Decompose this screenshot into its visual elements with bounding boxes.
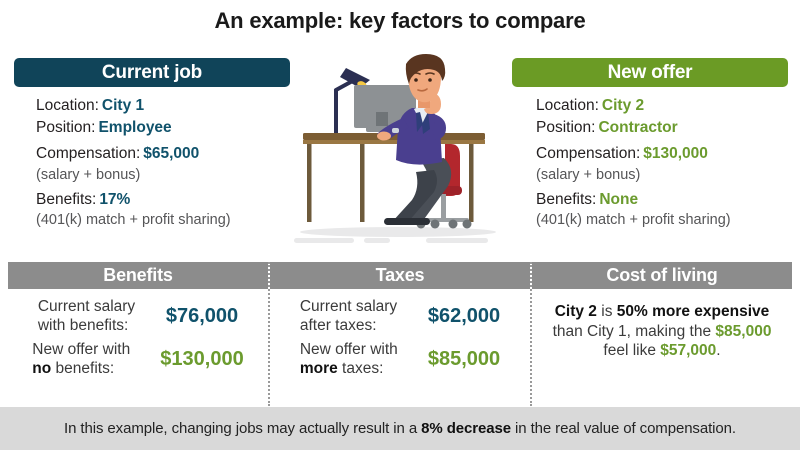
table-row: New offer with no benefits: $130,000 xyxy=(8,341,268,378)
offer-compensation-subtext: (salary + bonus) xyxy=(536,166,788,185)
taxes-row1-label-line1: Current salary xyxy=(300,298,397,315)
footer-summary-text: In this example, changing jobs may actua… xyxy=(64,420,736,437)
taxes-column-header: Taxes xyxy=(270,262,530,289)
offer-compensation-value: $130,000 xyxy=(643,145,708,162)
benefits-row1-label-line1: Current salary xyxy=(38,298,135,315)
offer-location-value: City 2 xyxy=(602,97,644,114)
taxes-row2-label-bold: more xyxy=(300,360,338,377)
table-row: Current salary after taxes: $62,000 xyxy=(270,298,530,335)
current-benefits-label: Benefits: xyxy=(36,191,96,208)
taxes-row1-value: $62,000 xyxy=(428,305,500,328)
cost-of-living-note: City 2 is 50% more expensive than City 1… xyxy=(532,298,792,361)
cost-of-living-column-body: City 2 is 50% more expensive than City 1… xyxy=(532,289,792,361)
offer-compensation-label: Compensation: xyxy=(536,145,640,162)
col-note-city: City 2 xyxy=(555,303,597,320)
offer-compensation-row: Compensation:$130,000 xyxy=(536,144,788,165)
offer-benefits-value: None xyxy=(599,191,638,208)
current-location-value: City 1 xyxy=(102,97,144,114)
table-column-cost-of-living: Cost of living City 2 is 50% more expens… xyxy=(530,262,792,406)
benefits-column-header: Benefits xyxy=(8,262,268,289)
current-position-value: Employee xyxy=(98,119,171,136)
col-note-is: is xyxy=(597,303,617,320)
benefits-row2-label-line1: New offer with xyxy=(32,341,130,358)
offer-location-label: Location: xyxy=(536,97,599,114)
current-compensation-label: Compensation: xyxy=(36,145,140,162)
taxes-row2-value: $85,000 xyxy=(428,348,500,371)
current-job-heading: Current job xyxy=(14,58,290,87)
taxes-row1-label-line2: after taxes: xyxy=(300,317,377,334)
taxes-row2-label-line2: taxes: xyxy=(338,360,384,377)
footer-pre: In this example, changing jobs may actua… xyxy=(64,420,421,437)
current-benefits-subtext: (401(k) match + profit sharing) xyxy=(36,211,290,230)
current-benefits-value: 17% xyxy=(99,191,130,208)
current-job-body: Location:City 1 Position:Employee Compen… xyxy=(14,87,290,230)
col-note-period: . xyxy=(716,342,720,359)
offer-benefits-row: Benefits:None xyxy=(536,190,788,211)
benefits-row2-label: New offer with no benefits: xyxy=(32,341,150,378)
taxes-row2-label-line1: New offer with xyxy=(300,341,398,358)
col-note-amount2: $57,000 xyxy=(660,342,716,359)
current-compensation-value: $65,000 xyxy=(143,145,199,162)
current-location-label: Location: xyxy=(36,97,99,114)
col-note-than: than City 1, making the xyxy=(553,323,716,340)
benefits-row1-label: Current salary with benefits: xyxy=(38,298,156,335)
offer-location-row: Location:City 2 xyxy=(536,96,788,117)
table-column-taxes: Taxes Current salary after taxes: $62,00… xyxy=(268,262,530,406)
table-row: New offer with more taxes: $85,000 xyxy=(270,341,530,378)
current-job-panel: Current job Location:City 1 Position:Emp… xyxy=(14,58,290,235)
col-note-amount1: $85,000 xyxy=(715,323,771,340)
col-note-feellike: feel like xyxy=(603,342,660,359)
new-offer-panel: New offer Location:City 2 Position:Contr… xyxy=(512,58,788,235)
benefits-row2-label-bold: no xyxy=(32,360,51,377)
comparison-table: Benefits Current salary with benefits: $… xyxy=(8,262,792,406)
current-compensation-subtext: (salary + bonus) xyxy=(36,166,290,185)
man-at-desk-with-computer-icon xyxy=(288,52,512,248)
col-note-percent: 50% more expensive xyxy=(617,303,770,320)
offer-position-label: Position: xyxy=(536,119,595,136)
footer-post: in the real value of compensation. xyxy=(511,420,736,437)
taxes-row1-label: Current salary after taxes: xyxy=(300,298,418,335)
footer-bar: In this example, changing jobs may actua… xyxy=(0,407,800,450)
taxes-column-body: Current salary after taxes: $62,000 New … xyxy=(270,289,530,378)
taxes-row2-label: New offer with more taxes: xyxy=(300,341,418,378)
footer-emphasis: 8% decrease xyxy=(421,420,511,437)
slide-root: An example: key factors to compare Curre… xyxy=(0,0,800,450)
page-title: An example: key factors to compare xyxy=(0,8,800,34)
cost-of-living-column-header: Cost of living xyxy=(532,262,792,289)
benefits-row1-value: $76,000 xyxy=(166,305,238,328)
current-location-row: Location:City 1 xyxy=(36,96,290,117)
benefits-row2-value: $130,000 xyxy=(160,348,243,371)
table-column-benefits: Benefits Current salary with benefits: $… xyxy=(8,262,268,406)
current-compensation-row: Compensation:$65,000 xyxy=(36,144,290,165)
current-position-row: Position:Employee xyxy=(36,118,290,139)
offer-position-row: Position:Contractor xyxy=(536,118,788,139)
benefits-column-body: Current salary with benefits: $76,000 Ne… xyxy=(8,289,268,378)
offer-position-value: Contractor xyxy=(598,119,677,136)
benefits-row2-label-line2: benefits: xyxy=(51,360,114,377)
offer-benefits-subtext: (401(k) match + profit sharing) xyxy=(536,211,788,230)
table-row: Current salary with benefits: $76,000 xyxy=(8,298,268,335)
offer-benefits-label: Benefits: xyxy=(536,191,596,208)
new-offer-body: Location:City 2 Position:Contractor Comp… xyxy=(512,87,788,230)
new-offer-heading: New offer xyxy=(512,58,788,87)
benefits-row1-label-line2: with benefits: xyxy=(38,317,128,334)
current-benefits-row: Benefits:17% xyxy=(36,190,290,211)
current-position-label: Position: xyxy=(36,119,95,136)
